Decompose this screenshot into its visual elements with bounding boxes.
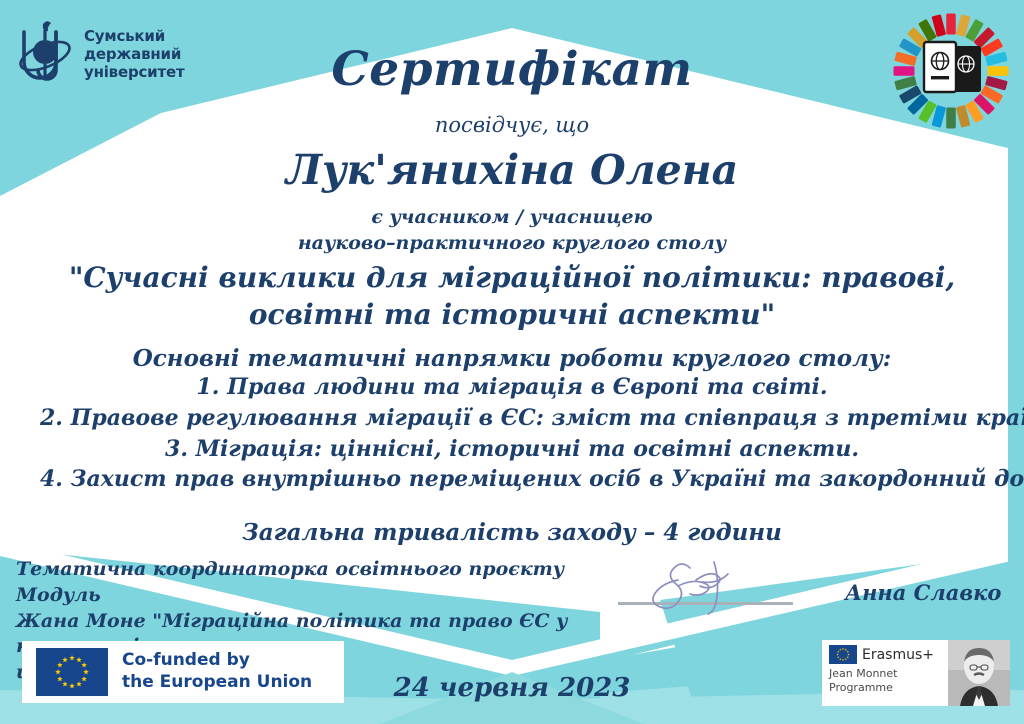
page-title: Сертифікат	[0, 42, 1024, 97]
signer-name: Анна Славко	[845, 580, 1001, 605]
coordinator-line-1: Тематична координаторка освітнього проєк…	[16, 557, 576, 609]
event-title: "Сучасні виклики для міграційної політик…	[40, 260, 984, 334]
erasmus-programme-line-2: Programme	[829, 681, 948, 695]
list-item: 1. Права людини та міграція в Європі та …	[40, 372, 984, 403]
jean-monnet-portrait-icon	[948, 640, 1010, 706]
european-union-flag-small-icon	[829, 645, 857, 664]
erasmus-programme-line-1: Jean Monnet	[829, 667, 948, 681]
handwritten-signature-icon	[646, 556, 766, 618]
erasmus-brand-row: Erasmus+	[829, 645, 948, 664]
eu-badge-line-1: Co-funded by	[122, 650, 312, 672]
list-item: 4. Захист прав внутрішньо переміщених ос…	[40, 464, 984, 495]
erasmus-brand-label: Erasmus+	[862, 647, 934, 663]
topics-heading: Основні тематичні напрямки роботи кругло…	[0, 345, 1024, 372]
certificate-subtitle: посвідчує, що	[0, 113, 1024, 137]
participant-role: є учасником / учасницею науково–практичн…	[0, 205, 1024, 256]
recipient-name: Лук'янихіна Олена	[0, 146, 1024, 194]
list-item: 2. Правове регулювання міграції в ЄС: зм…	[40, 403, 984, 434]
topics-list: 1. Права людини та міграція в Європі та …	[40, 372, 984, 495]
signature-area	[618, 558, 808, 616]
event-duration: Загальна тривалість заходу – 4 години	[0, 519, 1024, 546]
list-item: 3. Міграція: ціннісні, історичні та осві…	[40, 434, 984, 465]
erasmus-badge-text: Erasmus+ Jean Monnet Programme	[822, 640, 948, 706]
erasmus-jean-monnet-badge: Erasmus+ Jean Monnet Programme	[822, 640, 1010, 706]
certificate-page: Сумський державний університет Сертифіка…	[0, 0, 1024, 724]
erasmus-programme-label: Jean Monnet Programme	[829, 667, 948, 696]
role-line-1: є учасником / учасницею	[0, 205, 1024, 231]
role-line-2: науково–практичного круглого столу	[0, 231, 1024, 257]
